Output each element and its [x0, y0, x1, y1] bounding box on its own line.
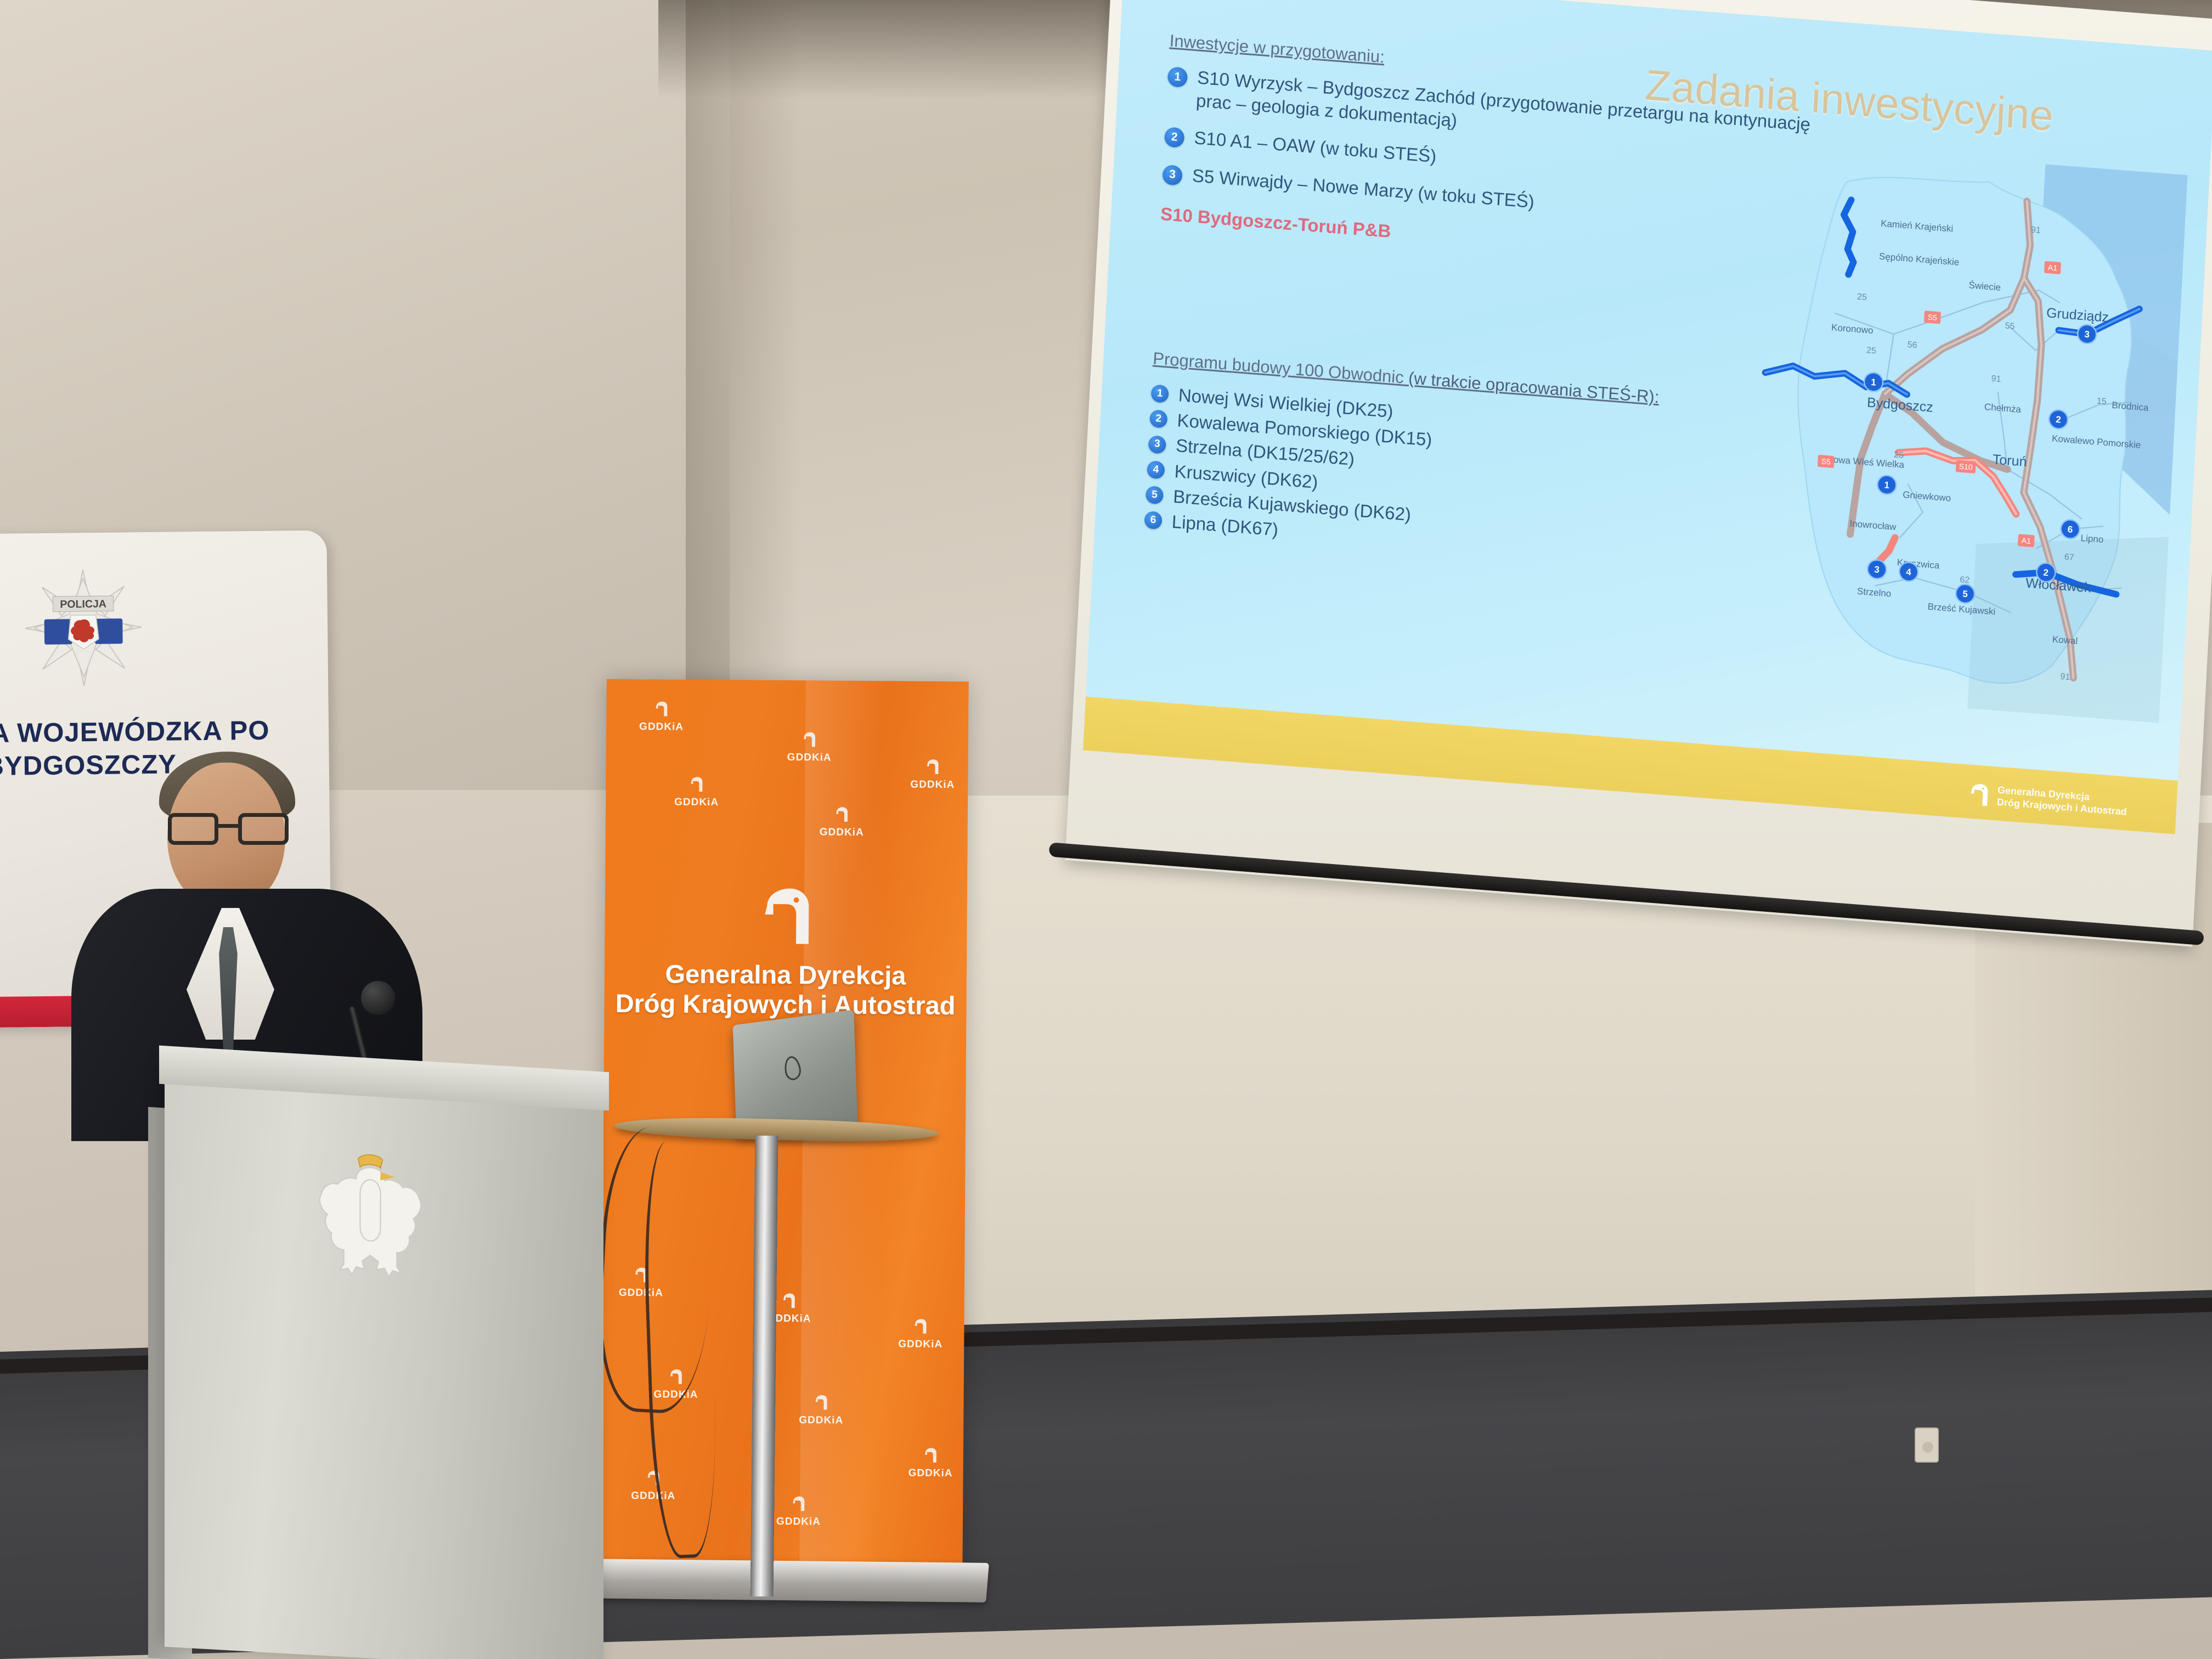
bullet-number: 2 [1149, 410, 1168, 428]
gddkia-eagle-icon [781, 1292, 797, 1309]
svg-text:S5: S5 [1927, 313, 1937, 322]
svg-text:4: 4 [1906, 567, 1912, 578]
svg-text:A1: A1 [2021, 536, 2031, 545]
gddkia-eagle-icon [924, 758, 941, 775]
svg-text:2: 2 [2043, 567, 2049, 578]
section-b-heading-rest: (w trakcie opracowania STEŚ-R): [1403, 368, 1660, 407]
policja-word: POLICJA [60, 598, 106, 611]
svg-text:S5: S5 [1821, 456, 1831, 466]
svg-text:Kowal: Kowal [2052, 634, 2078, 647]
gddkia-watermark: GDDKiA [674, 776, 719, 809]
gddkia-watermark-label: GDDKiA [639, 721, 684, 733]
gddkia-watermark: GDDKiA [898, 1317, 943, 1351]
gddkia-watermark-label: GDDKiA [898, 1338, 943, 1351]
policja-star-icon: POLICJA [20, 564, 147, 691]
gddkia-watermark: GDDKiA [639, 700, 684, 733]
bullet-number: 3 [1148, 435, 1167, 454]
glasses-left-lens [168, 813, 218, 845]
gddkia-eagle-icon [653, 700, 670, 717]
projection-screen-surface: Zadania inwestycyjne Inwestycje w przygo… [1065, 0, 2212, 947]
gddkia-eagle-icon [912, 1318, 929, 1335]
svg-text:67: 67 [2064, 552, 2074, 562]
glasses-bridge [218, 824, 240, 828]
bullet-number: 1 [1167, 66, 1188, 88]
glasses-right-lens [238, 813, 289, 845]
bullet-number: 4 [1147, 460, 1165, 479]
laptop[interactable] [733, 1009, 858, 1136]
svg-text:55: 55 [2005, 321, 2015, 331]
svg-text:2: 2 [2056, 414, 2061, 425]
slide-footer-logo: Generalna Dyrekcja Dróg Krajowych i Auto… [1966, 781, 2128, 818]
bullet-number: 1 [1150, 384, 1169, 403]
bullet-number: 3 [1162, 165, 1183, 186]
bullet-number: 2 [1164, 127, 1185, 148]
rollup-banner-logo: Generalna Dyrekcja Dróg Krajowych i Auto… [615, 882, 956, 1020]
presentation-slide: Zadania inwestycyjne Inwestycje w przygo… [1083, 0, 2212, 834]
svg-text:25: 25 [1894, 450, 1904, 460]
svg-text:3: 3 [1874, 564, 1880, 575]
policja-line-1: NDA WOJEWÓDZKA PO [0, 714, 332, 751]
rollup-name-line1: Generalna Dyrekcja [616, 959, 956, 991]
svg-text:3: 3 [2084, 329, 2090, 340]
rollup-banner-base [580, 1559, 989, 1602]
microphone-icon [361, 981, 395, 1015]
rollup-name-line2: Dróg Krajowych i Autostrad [615, 989, 955, 1020]
gddkia-watermark-label: GDDKiA [674, 797, 719, 809]
polish-eagle-emblem-icon [307, 1138, 433, 1287]
gddkia-watermark: GDDKiA [909, 1447, 953, 1480]
gddkia-eagle-icon [922, 1447, 939, 1464]
svg-text:A1: A1 [2047, 263, 2057, 272]
bullet-text: S10 A1 – OAW (w toku STEŚ) [1194, 127, 1437, 168]
svg-text:Toruń: Toruń [1992, 452, 2027, 470]
svg-text:56: 56 [1907, 340, 1917, 350]
svg-text:5: 5 [1962, 589, 1968, 600]
gddkia-watermark-label: GDDKiA [910, 779, 955, 792]
laptop-table-pole [751, 1136, 778, 1596]
svg-text:6: 6 [2067, 524, 2073, 535]
laptop-lid-logo-icon [783, 1054, 803, 1082]
gddkia-eagle-icon [689, 776, 705, 793]
svg-text:1: 1 [1871, 377, 1876, 388]
press-conference-scene: POLICJA NDA WOJEWÓDZKA PO W BYDGOSZCZY Z… [0, 0, 2212, 1659]
svg-text:15: 15 [2096, 397, 2107, 407]
svg-text:91: 91 [2060, 672, 2070, 682]
svg-text:91: 91 [2031, 225, 2041, 235]
bullet-number: 6 [1144, 511, 1163, 529]
gddkia-eagle-icon [1966, 781, 1991, 808]
region-map: Kamień Krajeński Sępólno Krajeńskie Świe… [1731, 131, 2188, 733]
gddkia-watermark: GDDKiA [910, 758, 955, 792]
glasses-icon [165, 813, 292, 846]
svg-text:1: 1 [1884, 479, 1889, 490]
bullet-number: 5 [1145, 486, 1164, 504]
wall-outlet-icon [1915, 1427, 1939, 1463]
gddkia-watermark-label: GDDKiA [909, 1468, 953, 1480]
region-map-svg: Kamień Krajeński Sępólno Krajeńskie Świe… [1731, 131, 2188, 733]
svg-text:25: 25 [1866, 346, 1877, 356]
svg-text:S10: S10 [1959, 462, 1973, 472]
gddkia-eagle-icon [754, 883, 818, 949]
projection-screen: Zadania inwestycyjne Inwestycje w przygo… [1062, 0, 2212, 1009]
svg-text:Lipno: Lipno [2080, 533, 2103, 545]
svg-text:25: 25 [1857, 292, 1867, 302]
section-b-heading-underlined: Programu budowy 100 Obwodnic [1153, 348, 1404, 387]
svg-text:91: 91 [1991, 374, 2001, 384]
